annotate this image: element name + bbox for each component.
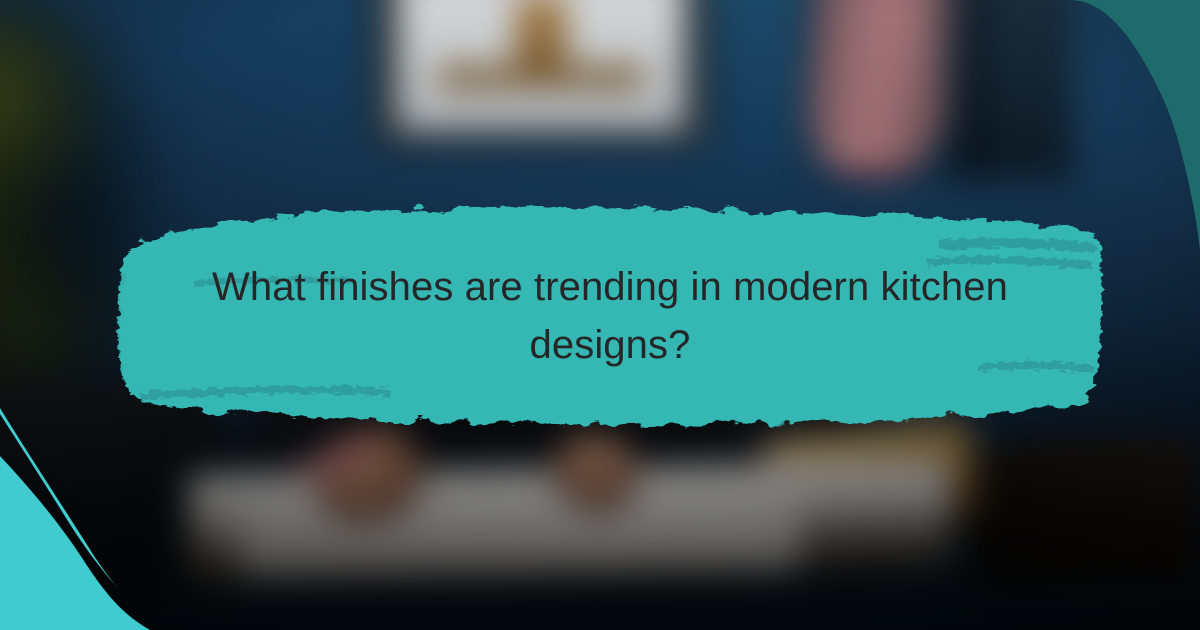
headline-line-2: designs? bbox=[190, 316, 1030, 374]
question-card: What finishes are trending in modern kit… bbox=[0, 0, 1200, 630]
headline-line-1: What finishes are trending in modern kit… bbox=[190, 258, 1030, 316]
question-headline: What finishes are trending in modern kit… bbox=[150, 205, 1070, 427]
